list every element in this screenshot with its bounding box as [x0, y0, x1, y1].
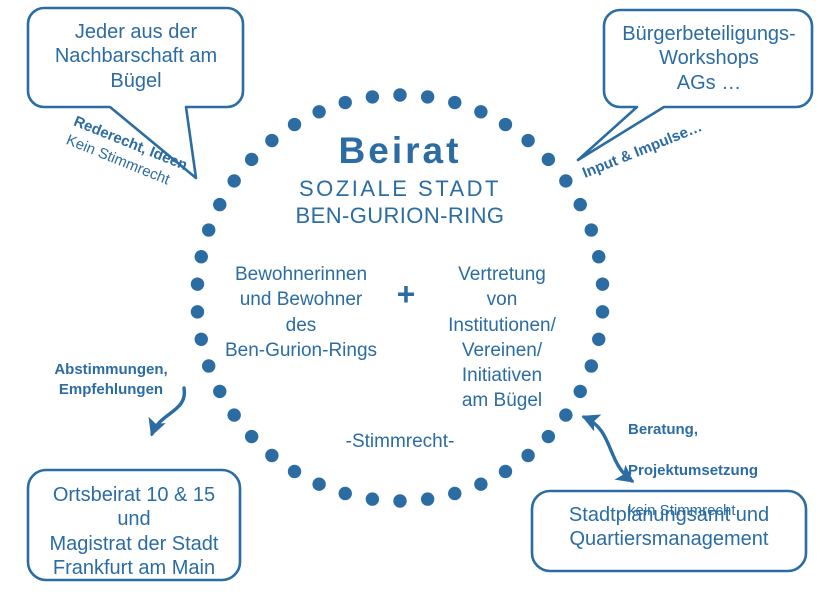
ring-dot	[202, 223, 215, 236]
ring-dot	[592, 250, 605, 263]
ring-subtitle-2: BEN-GURION-RING	[250, 203, 550, 230]
ring-dot	[245, 430, 258, 443]
ring-dot	[191, 277, 204, 290]
ring-dot	[448, 487, 461, 500]
ring-column-right: Vertretung von Institutionen/ Vereinen/ …	[424, 262, 580, 414]
bubble-text-top-right: Bürgerbeteiligungs- Workshops AGs …	[610, 22, 808, 95]
ring-dot	[474, 105, 487, 118]
ring-dot	[265, 449, 278, 462]
arrow-beratung	[584, 417, 632, 481]
ring-dot	[191, 305, 204, 318]
ring-dot	[393, 88, 406, 101]
ring-column-left: Bewohnerinnen und Bewohner des Ben-Gurio…	[210, 262, 392, 363]
label-beratung-line2: Projektumsetzung	[628, 461, 808, 481]
label-beratung-line1: Beratung,	[628, 420, 808, 440]
ring-dot	[542, 430, 555, 443]
ring-dot	[521, 449, 534, 462]
box-text-bottom-left: Ortsbeirat 10 & 15 und Magistrat der Sta…	[36, 483, 232, 581]
bubble-text-top-left: Jeder aus der Nachbarschaft am Bügel	[36, 20, 236, 93]
label-beratung-line3: kein Stimmrecht	[628, 501, 808, 521]
ring-dot	[585, 359, 598, 372]
ring-dot	[213, 385, 226, 398]
label-abstimmungen: Abstimmungen, Empfehlungen	[36, 360, 186, 401]
ring-dot	[312, 477, 325, 490]
ring-dot	[499, 465, 512, 478]
ring-dot	[213, 198, 226, 211]
diagram-canvas: Jeder aus der Nachbarschaft am Bügel Bür…	[0, 0, 820, 600]
ring-dot	[288, 465, 301, 478]
ring-dot	[474, 477, 487, 490]
ring-dot	[559, 174, 572, 187]
ring-dot	[339, 96, 352, 109]
ring-dot	[312, 105, 325, 118]
ring-dot	[421, 90, 434, 103]
ring-dot	[195, 333, 208, 346]
ring-vote-note: -Stimmrecht-	[300, 430, 500, 453]
ring-dot	[227, 408, 240, 421]
ring-dot	[596, 305, 609, 318]
ring-dot	[421, 492, 434, 505]
ring-dot	[592, 333, 605, 346]
ring-dot	[596, 277, 609, 290]
ring-dot	[366, 90, 379, 103]
label-beratung: Beratung, Projektumsetzung kein Stimmrec…	[628, 400, 808, 542]
ring-dot	[339, 487, 352, 500]
ring-dot	[195, 250, 208, 263]
ring-title: Beirat	[250, 128, 550, 173]
ring-dot	[574, 198, 587, 211]
ring-dot	[393, 494, 406, 507]
ring-subtitle-1: SOZIALE STADT	[250, 176, 550, 203]
plus-icon: +	[388, 278, 424, 310]
label-input-impulse: Input & Impulse…	[580, 118, 705, 183]
ring-dot	[227, 174, 240, 187]
ring-dot	[448, 96, 461, 109]
ring-dot	[366, 492, 379, 505]
ring-dot	[585, 223, 598, 236]
